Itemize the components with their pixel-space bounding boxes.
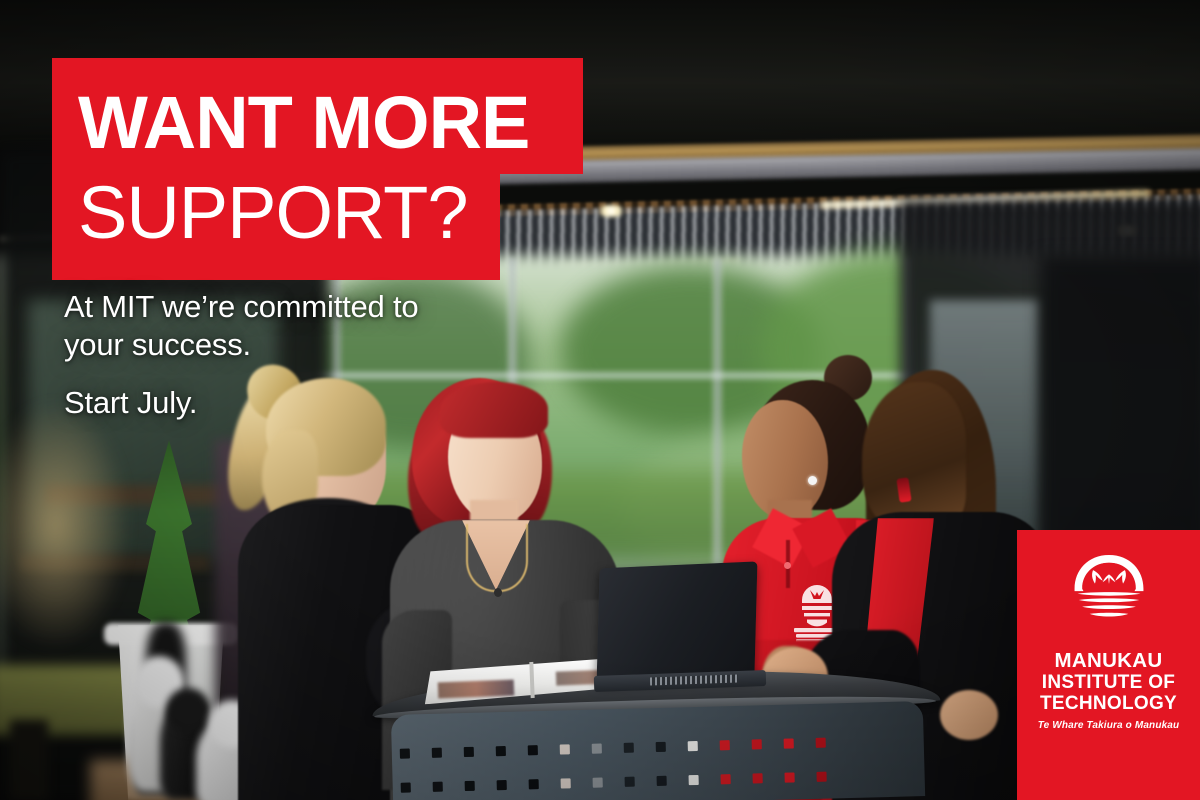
logo-name-line-2: INSTITUTE OF: [1038, 672, 1180, 693]
podium-perforation: [689, 775, 699, 785]
podium-perforation: [720, 740, 730, 750]
podium-perforation: [560, 744, 570, 754]
podium-perforation: [464, 747, 474, 757]
headline-block: WANT MORE SUPPORT?: [52, 58, 583, 280]
podium-perforation: [561, 778, 571, 788]
podium-perforation: [625, 777, 635, 787]
mit-logo-panel: MANUKAU INSTITUTE OF TECHNOLOGY Te Whare…: [1017, 530, 1200, 800]
window-mullion: [713, 258, 722, 588]
podium-perforation: [401, 782, 411, 792]
podium-perforation: [816, 738, 826, 748]
subhead-line-2: your success.: [64, 326, 418, 364]
podium-perforation: [688, 741, 698, 751]
chess-piece-black-head: [166, 688, 210, 732]
poster-canvas: WANT MORE SUPPORT? At MIT we’re committe…: [0, 0, 1200, 800]
hand: [940, 690, 998, 740]
podium-perforation: [433, 782, 443, 792]
table-leg: [10, 720, 48, 800]
mit-logo-wordmark: MANUKAU INSTITUTE OF TECHNOLOGY Te Whare…: [1038, 650, 1180, 731]
podium-perforation: [528, 745, 538, 755]
podium-perforation: [496, 746, 506, 756]
podium-perforation: [624, 743, 634, 753]
podium-perforation: [497, 780, 507, 790]
podium-perforation: [592, 743, 602, 753]
podium-perforation: [529, 779, 539, 789]
dried-plant-arrangement: [0, 400, 130, 650]
podium-perforation: [784, 738, 794, 748]
laptop-lid: [597, 561, 758, 683]
subhead-block: At MIT we’re committed to your success. …: [64, 288, 418, 421]
polo-button: [784, 562, 791, 569]
logo-name-line-1: MANUKAU: [1038, 650, 1180, 672]
logo-name-line-3: TECHNOLOGY: [1038, 693, 1180, 714]
brochure-photo: [438, 680, 515, 699]
podium-perforation: [784, 772, 794, 782]
gold-necklace: [466, 524, 528, 592]
fringe: [440, 382, 548, 438]
podium-perforated-body: [391, 701, 925, 800]
podium-perforation: [752, 739, 762, 749]
headline-line-1: WANT MORE: [52, 58, 583, 174]
subhead-line-1: At MIT we’re committed to: [64, 288, 418, 326]
podium-perforation: [657, 776, 667, 786]
headline-line-2: SUPPORT?: [52, 174, 500, 280]
podium-perforation: [593, 777, 603, 787]
podium-perforation: [721, 774, 731, 784]
podium-perforation: [400, 748, 410, 758]
hair-front: [862, 382, 966, 532]
podium-perforation: [465, 781, 475, 791]
necklace-pendant: [494, 588, 502, 597]
podium-perforation: [753, 773, 763, 783]
subhead-line-3: Start July.: [64, 384, 418, 422]
manukau-institute-of-technology-emblem-icon: [1067, 550, 1151, 634]
subhead-spacer: [64, 364, 418, 384]
podium-perforation: [656, 742, 666, 752]
podium-perforation: [432, 748, 442, 758]
podium-perforation: [816, 772, 826, 782]
stud-earring: [808, 476, 817, 485]
ceiling-downlight: [594, 205, 628, 217]
logo-tagline: Te Whare Takiura o Manukau: [1038, 720, 1180, 731]
